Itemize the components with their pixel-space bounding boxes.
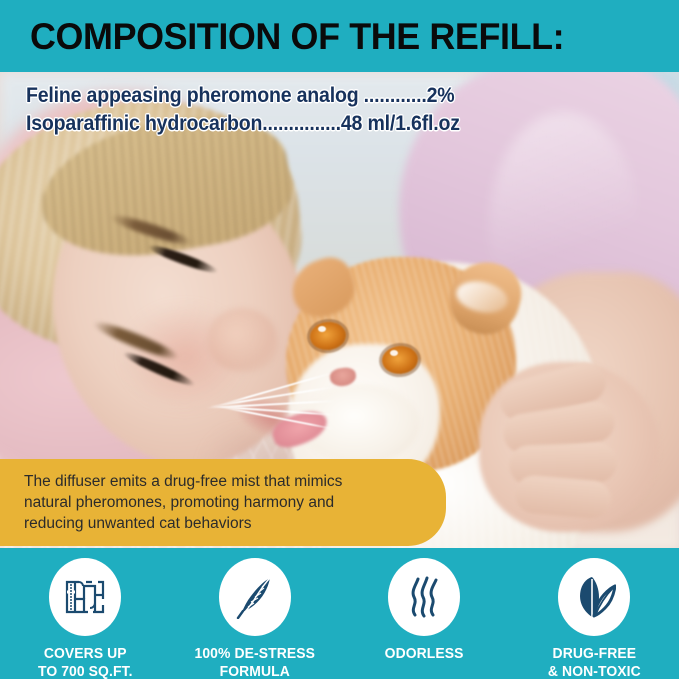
feature-label-destress: 100% DE-STRESS FORMULA (194, 645, 314, 679)
composition-line-1: Feline appeasing pheromone analog ......… (26, 82, 460, 110)
header-bar: COMPOSITION OF THE REFILL: (0, 0, 679, 72)
benefit-callout: The diffuser emits a drug-free mist that… (0, 459, 446, 546)
feature-icon-badge (49, 558, 121, 636)
feature-drug-free: DRUG-FREE & NON-TOXIC (514, 558, 674, 679)
feature-icon-badge (219, 558, 291, 636)
cat-eye-glint-left (318, 326, 326, 332)
cat-eye-glint-right (390, 350, 398, 356)
feature-icon-badge (558, 558, 630, 636)
feature-label-coverage: COVERS UP TO 700 SQ.FT. (38, 645, 133, 679)
page-title: COMPOSITION OF THE REFILL: (30, 18, 564, 55)
composition-text-block: Feline appeasing pheromone analog ......… (26, 82, 492, 138)
feature-coverage: COVERS UP TO 700 SQ.FT. (5, 558, 165, 679)
vapor-waves-icon (406, 576, 442, 618)
feature-icon-badge (388, 558, 460, 636)
benefit-callout-text: The diffuser emits a drug-free mist that… (24, 471, 342, 534)
composition-line-2: Isoparaffinic hydrocarbon...............… (26, 110, 460, 138)
feature-destress: 100% DE-STRESS FORMULA (175, 558, 335, 679)
product-infographic: COMPOSITION OF THE REFILL: (0, 0, 679, 679)
woman-nose (208, 308, 278, 372)
feature-odorless: ODORLESS (344, 558, 504, 663)
floor-plan-icon (64, 577, 106, 617)
feature-label-drug-free: DRUG-FREE & NON-TOXIC (548, 645, 641, 679)
feather-icon (235, 575, 275, 619)
feature-bar: COVERS UP TO 700 SQ.FT. 100% DE (0, 548, 679, 679)
leaves-icon (572, 575, 616, 619)
feature-label-odorless: ODORLESS (385, 645, 464, 663)
